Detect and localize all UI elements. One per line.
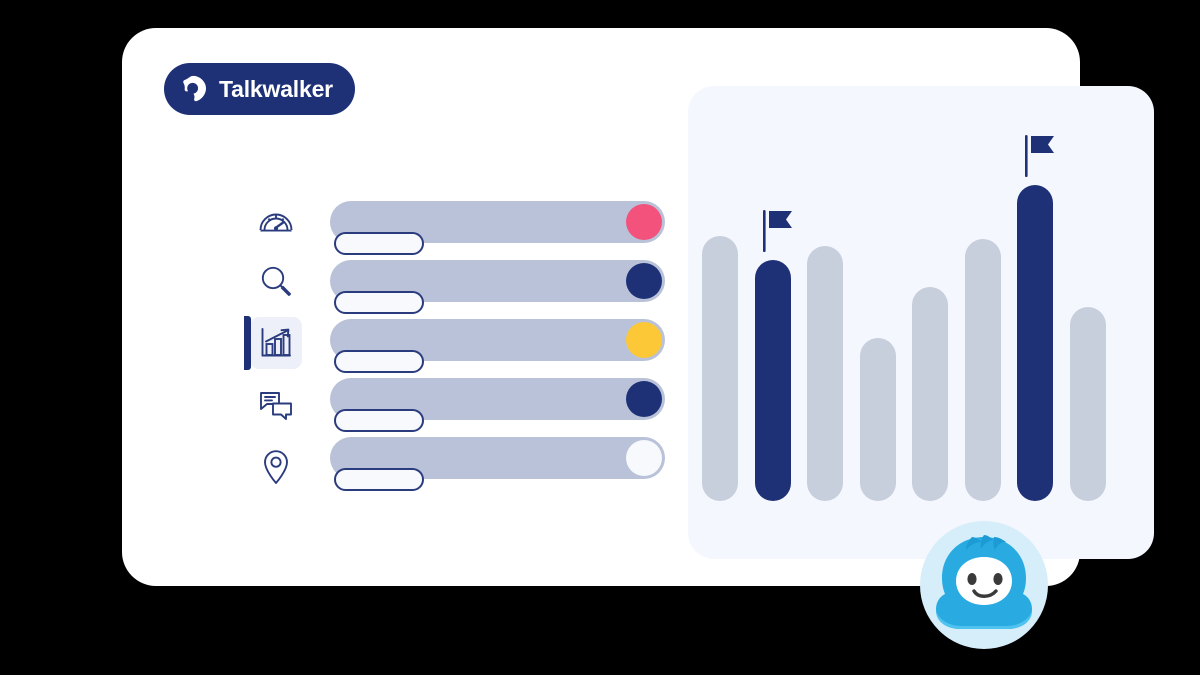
status-dot-empty[interactable] (626, 440, 662, 476)
row-tag-chip[interactable] (334, 468, 424, 491)
sidebar-item-locations[interactable] (244, 436, 307, 498)
map-pin-icon (250, 441, 302, 493)
status-dot-yellow[interactable] (626, 322, 662, 358)
brand-badge[interactable]: Talkwalker (164, 63, 355, 115)
flag-icon (1023, 133, 1057, 179)
sidebar-item-search[interactable] (244, 250, 307, 312)
status-dot-navy[interactable] (626, 263, 662, 299)
status-dot-pink[interactable] (626, 204, 662, 240)
list-item[interactable] (330, 319, 665, 378)
chart-bar[interactable] (965, 239, 1001, 501)
chart-bar[interactable] (1070, 307, 1106, 501)
row-tag-chip[interactable] (334, 409, 424, 432)
list-item[interactable] (330, 260, 665, 319)
chat-bubbles-icon (250, 379, 302, 431)
chart-bar[interactable] (702, 236, 738, 501)
gauge-icon (250, 193, 302, 245)
row-tag-chip[interactable] (334, 291, 424, 314)
chart-bar-highlighted[interactable] (755, 260, 791, 501)
list-item[interactable] (330, 201, 665, 260)
chart-bar-highlighted[interactable] (1017, 185, 1053, 501)
screenshot-stage: Talkwalker (0, 0, 1200, 675)
sidebar-nav (244, 188, 307, 498)
talkwalker-logo-mark-icon (178, 74, 208, 104)
brand-name: Talkwalker (219, 76, 333, 103)
row-tag-chip[interactable] (334, 232, 424, 255)
sidebar-item-dashboard[interactable] (244, 188, 307, 250)
sidebar-item-analytics[interactable] (244, 312, 307, 374)
chart-bar[interactable] (807, 246, 843, 501)
list-item[interactable] (330, 378, 665, 437)
flag-icon (761, 208, 795, 254)
sidebar-item-mentions[interactable] (244, 374, 307, 436)
bar-chart-plot (688, 86, 1154, 559)
chart-bar[interactable] (912, 287, 948, 501)
chart-panel (688, 86, 1154, 559)
search-icon (250, 255, 302, 307)
row-tag-chip[interactable] (334, 350, 424, 373)
list-item[interactable] (330, 437, 665, 496)
bar-chart-icon (250, 317, 302, 369)
talkwalker-mascot (920, 521, 1048, 649)
chart-bar[interactable] (860, 338, 896, 501)
metric-row-list (330, 201, 665, 496)
status-dot-navy[interactable] (626, 381, 662, 417)
